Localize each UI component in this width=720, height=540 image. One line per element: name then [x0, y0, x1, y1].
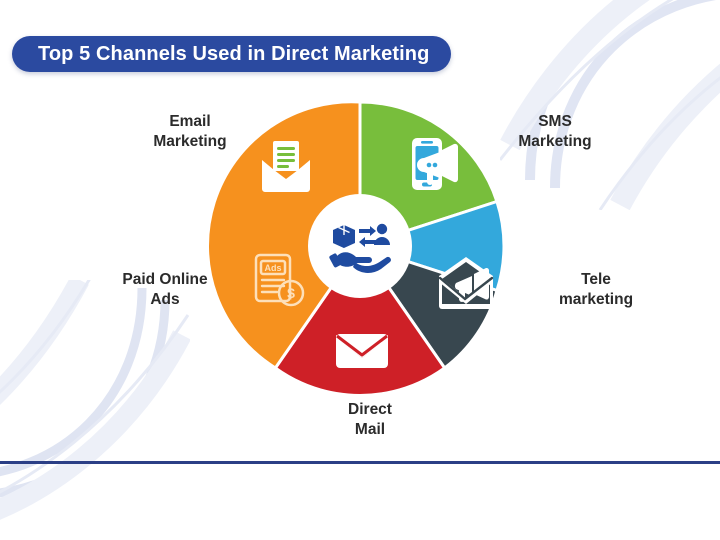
svg-text:Ads: Ads: [264, 263, 281, 273]
swirl-decoration-bottom-left: [0, 280, 190, 540]
label-sms-marketing: SMS Marketing: [480, 112, 630, 153]
envelope-icon: [330, 318, 394, 382]
envelope-megaphone-icon: [434, 252, 498, 316]
swirl-decoration-top-right: [500, 0, 720, 210]
mobile-megaphone-icon: [404, 134, 468, 198]
page-title: Top 5 Channels Used in Direct Marketing: [38, 44, 429, 64]
label-tele-marketing: Tele marketing: [516, 270, 676, 311]
infographic-canvas: Top 5 Channels Used in Direct Marketing: [0, 0, 720, 480]
center-hub: [312, 198, 408, 294]
svg-text:$: $: [287, 285, 295, 301]
label-paid-online-ads: Paid Online Ads: [80, 270, 250, 311]
footer-rule: [0, 461, 720, 464]
package-delivery-handoff-icon: [329, 218, 391, 274]
page-title-banner: Top 5 Channels Used in Direct Marketing: [12, 36, 451, 72]
label-email-marketing: Email Marketing: [120, 112, 260, 153]
envelope-document-icon: [254, 135, 318, 199]
label-direct-mail: Direct Mail: [290, 400, 450, 441]
ads-document-icon: Ads $: [247, 250, 311, 314]
